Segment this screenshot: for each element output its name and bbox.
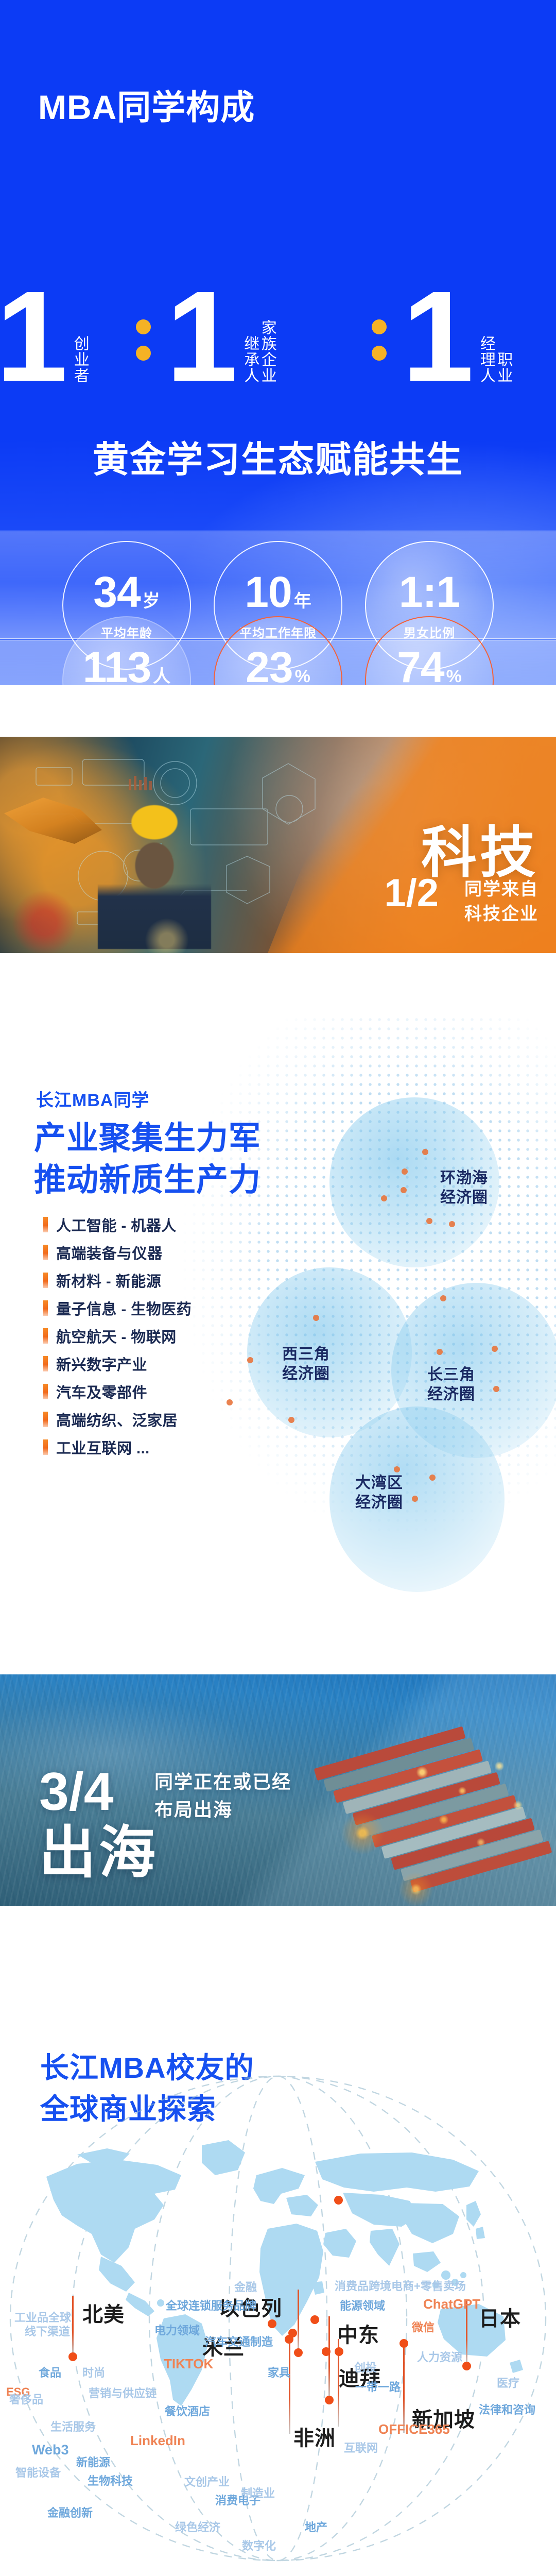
list-item: 量子信息 - 生物医药: [43, 1294, 265, 1322]
stat-female-executives: 23 % 女性高管: [214, 616, 342, 685]
ratio-tag-group: 继承人 家族企业: [241, 319, 357, 391]
stat-unit: %: [446, 668, 462, 685]
ratio-colon-2: [372, 319, 387, 361]
stats-row-seniority: 113 人 核心决策者 23 % 女性高管 74 % 中高层管理者: [0, 616, 556, 685]
industry-heading: 产业聚集生力军 推动新质生产力: [34, 1118, 261, 1201]
sea-caption: 同学正在或已经 布局出海: [154, 1768, 291, 1824]
marker-dot: [335, 2347, 343, 2356]
industry-label: 高端装备与仪器: [56, 1242, 163, 1263]
marker-dot: [294, 2348, 303, 2357]
map-brand-wechat: 微信: [412, 2318, 435, 2335]
region-line-1: 西三角: [282, 1345, 330, 1364]
industry-heading-line-2: 推动新质生产力: [34, 1160, 261, 1201]
region-line-1: 环渤海: [440, 1168, 488, 1188]
stat-unit: 年: [294, 592, 311, 610]
stat-value: 23 %: [246, 646, 310, 686]
map-tag: 全球连锁服务品牌: [166, 2297, 256, 2313]
bullet-bar-icon: [43, 1245, 48, 1260]
bullet-bar-icon: [43, 1356, 48, 1371]
map-tag: 法律和咨询: [479, 2401, 535, 2417]
list-item: 新材料 - 新能源: [43, 1266, 265, 1294]
stat-core-decision-makers: 113 人 核心决策者: [62, 616, 191, 685]
industry-kicker: 长江MBA同学: [36, 1086, 149, 1111]
map-tag: 文创产业: [184, 2473, 230, 2489]
bullet-bar-icon: [43, 1273, 48, 1288]
region-line-2: 经济圈: [440, 1188, 488, 1208]
stat-number: 113: [83, 646, 151, 686]
map-tag: 人力资源: [417, 2348, 462, 2365]
map-city-north-america: 北美: [82, 2298, 125, 2328]
stat-number: 23: [246, 646, 292, 686]
stat-value: 10 年: [245, 570, 311, 614]
region-line-2: 经济圈: [355, 1493, 403, 1513]
bullet-bar-icon: [43, 1328, 48, 1344]
marker-stick: [403, 2343, 405, 2433]
map-tag: 线下渠道: [25, 2323, 70, 2339]
map-tag: 金融创新: [47, 2504, 93, 2520]
map-tag: 创投: [354, 2359, 377, 2375]
map-tag: 生活服务: [50, 2418, 96, 2434]
hero-section: MBA同学构成 1 创业者 1 继承人 家族企业 1 经理人 职业 黄金学习生态…: [0, 0, 556, 685]
city-pin: [394, 1466, 400, 1472]
map-tag: 智能设备: [15, 2464, 61, 2480]
map-tag: 汽车交通制造: [205, 2333, 273, 2349]
region-label-bohai: 环渤海 经济圈: [440, 1168, 488, 1208]
city-pin: [227, 1399, 233, 1405]
city-pin: [449, 1221, 455, 1227]
city-pin: [426, 1218, 432, 1224]
city-pin: [247, 1357, 253, 1363]
ratio-unit-professional-manager: 1 经理人 职业: [402, 282, 556, 391]
map-tag: 绿色经济: [175, 2518, 220, 2535]
list-item: 航空航天 - 物联网: [43, 1322, 265, 1350]
ratio-tag: 职业: [495, 351, 512, 383]
map-tag: 新能源: [76, 2453, 110, 2470]
map-tag: 家具: [268, 2364, 290, 2380]
industry-section: 长江MBA同学 产业聚集生力军 推动新质生产力 人工智能 - 机器人 高端装备与…: [0, 953, 556, 1623]
map-brand-chatgpt: ChatGPT: [423, 2296, 480, 2312]
stat-unit: 岁: [143, 592, 160, 610]
industry-label: 新兴数字产业: [56, 1353, 147, 1375]
map-tag: 能源领域: [340, 2297, 385, 2313]
global-section: 长江MBA校友的 全球商业探索: [0, 1906, 556, 2576]
sea-fraction: 3/4: [39, 1765, 114, 1819]
map-tag: 消费品跨境电商+零售卖场: [335, 2277, 466, 2294]
tech-caption-line-1: 同学来自: [464, 877, 538, 902]
map-tag: 医疗: [497, 2374, 519, 2391]
ratio-number: 1: [166, 282, 238, 391]
map-city-middle-east: 中东: [337, 2318, 379, 2348]
region-label-xisanjiao: 西三角 经济圈: [282, 1345, 330, 1384]
marker-dot: [68, 2352, 77, 2361]
bullet-bar-icon: [43, 1384, 48, 1399]
marker-dot: [325, 2396, 334, 2404]
industry-label: 高端纺织、泛家居: [56, 1409, 178, 1430]
industry-label: 工业互联网 ...: [56, 1436, 150, 1458]
sea-caption-line-2: 布局出海: [154, 1796, 291, 1824]
industry-list: 人工智能 - 机器人 高端装备与仪器 新材料 - 新能源 量子信息 - 生物医药…: [43, 1211, 265, 1461]
tech-banner: 科技 1/2 同学来自 科技企业: [0, 737, 556, 953]
list-item: 工业互联网 ...: [43, 1433, 265, 1461]
marker-dot: [310, 2315, 319, 2324]
sea-headline: 出海: [39, 1825, 159, 1882]
bullet-bar-icon: [43, 1439, 48, 1455]
stat-value: 1:1: [399, 570, 460, 614]
industry-label: 航空航天 - 物联网: [56, 1325, 177, 1347]
city-pin: [437, 1349, 443, 1355]
bullet-bar-icon: [43, 1217, 48, 1232]
map-tag: 电力领域: [154, 2321, 200, 2338]
ratio-tag: 经理人: [478, 335, 494, 383]
city-pin: [381, 1195, 387, 1201]
map-tag: 生物科技: [88, 2472, 133, 2488]
marker-dot: [399, 2339, 408, 2348]
tech-headline: 科技: [421, 808, 538, 888]
industry-label: 人工智能 - 机器人: [56, 1214, 177, 1235]
list-item: 人工智能 - 机器人: [43, 1211, 265, 1239]
harbor-lights: [391, 1752, 546, 1855]
ratio-tag-group: 经理人 职业: [477, 335, 556, 391]
map-tag: 食品: [39, 2364, 61, 2380]
map-tag: 奢侈品: [9, 2391, 43, 2407]
stat-number: 10: [245, 570, 291, 614]
city-pin: [402, 1168, 408, 1175]
map-tag: Web3: [32, 2442, 69, 2458]
region-line-2: 经济圈: [427, 1385, 475, 1404]
industry-heading-line-1: 产业聚集生力军: [34, 1118, 261, 1160]
stat-value: 34 岁: [93, 570, 160, 614]
map-city-africa: 非洲: [293, 2421, 336, 2451]
stat-value: 113 人: [83, 646, 171, 686]
page-title: MBA同学构成: [38, 80, 255, 129]
list-item: 高端纺织、泛家居: [43, 1405, 265, 1433]
city-pin: [440, 1295, 446, 1301]
list-item: 高端装备与仪器: [43, 1239, 265, 1266]
city-pin: [429, 1475, 436, 1481]
marker-stick: [72, 2296, 74, 2354]
ratio-colon-1: [136, 319, 151, 361]
sea-caption-line-1: 同学正在或已经: [154, 1768, 291, 1796]
marker-dot: [288, 2329, 297, 2337]
map-brand-linkedin: LinkedIn: [130, 2433, 185, 2449]
stat-senior-managers: 74 % 中高层管理者: [365, 616, 494, 685]
region-label-changsanjiao: 长三角 经济圈: [427, 1365, 475, 1404]
region-line-2: 经济圈: [282, 1364, 330, 1384]
marker-dot: [462, 2362, 471, 2370]
region-line-1: 大湾区: [355, 1473, 403, 1493]
map-tag: 金融: [234, 2278, 257, 2295]
ratio-tag-group: 创业者: [71, 335, 120, 391]
hero-subtitle: 黄金学习生态赋能共生: [0, 431, 556, 483]
ratio-unit-family-business: 1 继承人 家族企业: [166, 282, 357, 391]
city-pin: [288, 1417, 294, 1423]
stat-unit: %: [295, 668, 310, 685]
ratio-unit-founder: 1 创业者: [0, 282, 120, 391]
city-pin: [422, 1149, 428, 1155]
bullet-bar-icon: [43, 1300, 48, 1316]
ratio-number: 1: [0, 282, 67, 391]
map-tag: 数字化: [242, 2537, 276, 2553]
stat-value: 74 %: [397, 646, 462, 686]
map-tag: 地产: [305, 2518, 327, 2535]
city-pin: [493, 1386, 499, 1392]
marker-dot: [334, 2196, 343, 2205]
map-tag: 一带一路: [355, 2378, 401, 2395]
map-city-japan: 日本: [479, 2302, 521, 2332]
region-label-greater-bay: 大湾区 经济圈: [355, 1473, 403, 1513]
marker-stick: [298, 2290, 299, 2350]
stat-number: 74: [397, 646, 444, 686]
ratio-tag: 创业者: [72, 335, 88, 383]
ratio-tag: 家族企业: [259, 319, 275, 383]
map-tag: 营销与供应链: [89, 2384, 157, 2401]
list-item: 新兴数字产业: [43, 1350, 265, 1378]
industry-label: 汽车及零部件: [56, 1381, 147, 1402]
going-global-banner: 3/4 同学正在或已经 布局出海 出海: [0, 1674, 556, 1906]
map-brand-tiktok: TIKTOK: [164, 2356, 213, 2372]
ratio-tag: 继承人: [242, 335, 258, 383]
stat-number: 1:1: [399, 570, 460, 614]
tech-caption-line-2: 科技企业: [464, 902, 538, 926]
map-tag: 制造业: [241, 2484, 275, 2501]
industry-label: 新材料 - 新能源: [56, 1269, 161, 1291]
marker-stick: [289, 2342, 290, 2434]
stat-unit: 人: [153, 668, 170, 685]
map-tag: 互联网: [344, 2439, 378, 2455]
marker-dot: [322, 2347, 331, 2356]
city-pin: [401, 1187, 407, 1193]
map-tag: 餐饮酒店: [165, 2402, 210, 2419]
marker-stick: [328, 2316, 330, 2398]
ratio-composition: 1 创业者 1 继承人 家族企业 1 经理人 职业: [0, 251, 556, 391]
map-tag: 时尚: [82, 2364, 105, 2380]
tech-fraction: 1/2: [384, 874, 439, 913]
city-pin: [492, 1346, 498, 1352]
ratio-number: 1: [402, 282, 474, 391]
city-pin: [412, 1496, 418, 1502]
region-line-1: 长三角: [427, 1365, 475, 1385]
stat-number: 34: [93, 570, 140, 614]
tech-caption: 同学来自 科技企业: [464, 877, 538, 927]
city-pin: [313, 1315, 319, 1321]
industry-label: 量子信息 - 生物医药: [56, 1297, 192, 1319]
marker-dot: [268, 2319, 276, 2328]
map-brand-office365: OFFICE365: [378, 2421, 450, 2437]
bullet-bar-icon: [43, 1412, 48, 1427]
